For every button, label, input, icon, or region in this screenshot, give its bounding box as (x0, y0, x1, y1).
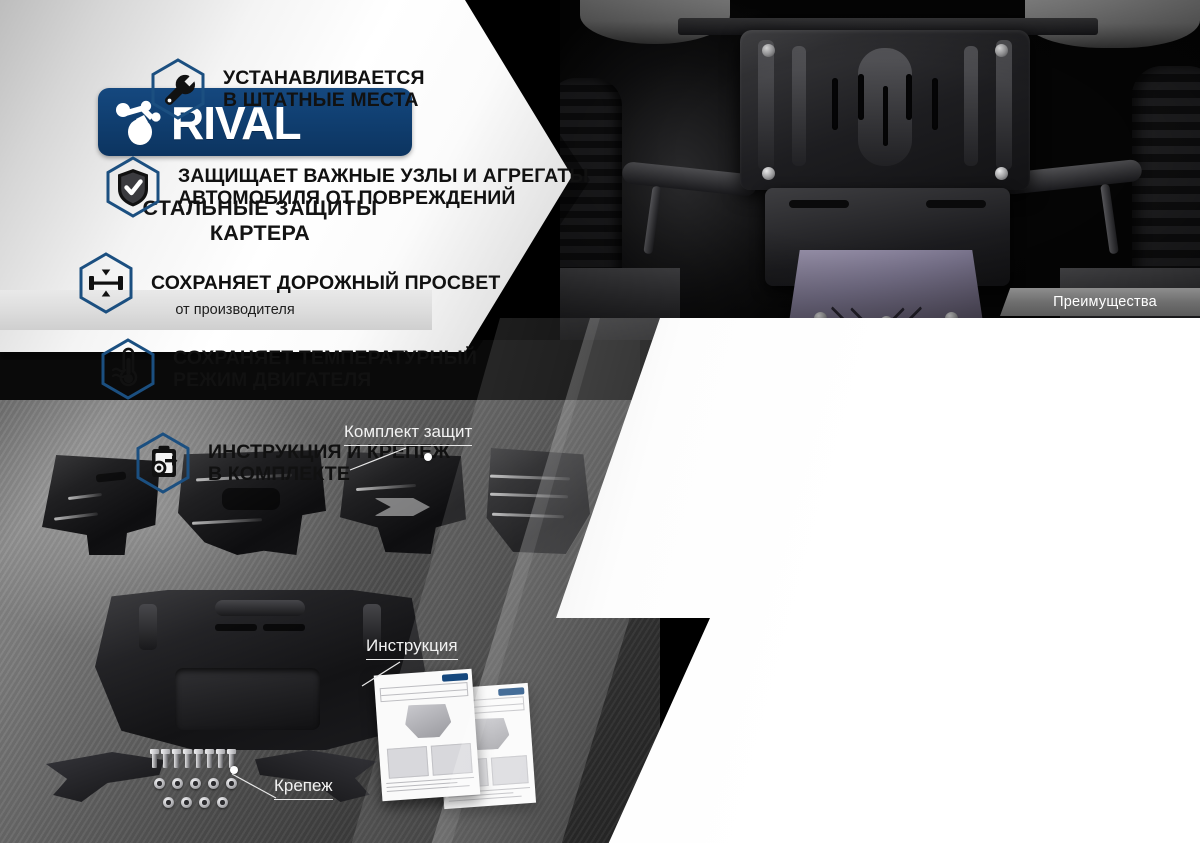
tab-advantages[interactable]: Преимущества (1000, 288, 1200, 316)
bottom-border (0, 843, 1200, 849)
clipboard-bolt-icon (135, 432, 191, 494)
feature-label-install: УСТАНАВЛИВАЕТСЯ В ШТАТНЫЕ МЕСТА (223, 67, 425, 111)
sheet-photo-1 (387, 746, 429, 779)
feature-item-protect: ЗАЩИЩАЕТ ВАЖНЫЕ УЗЛЫ И АГРЕГАТЫ АВТОМОБИ… (105, 156, 589, 218)
features-list: УСТАНАВЛИВАЕТСЯ В ШТАТНЫЕ МЕСТА ЗАЩИЩАЕТ… (0, 0, 680, 531)
tab-advantages-label: Преимущества (1053, 294, 1157, 310)
feature-label-kit: ИНСТРУКЦИЯ И КРЕПЕЖ В КОМПЛЕКТЕ (208, 441, 450, 485)
sheet-logo (442, 673, 468, 682)
feature-item-temperature: СОХРАНЯЕТ ТЕМПЕРАТУРНЫЙ РЕЖИМ ДВИГАТЕЛЯ (100, 338, 477, 400)
callout-fasteners-label: Крепеж (274, 776, 333, 800)
callout-kit-leader (348, 448, 408, 472)
ground-clearance-icon (78, 252, 134, 314)
oil-sump-recess (175, 668, 320, 730)
feature-item-install: УСТАНАВЛИВАЕТСЯ В ШТАТНЫЕ МЕСТА (150, 58, 425, 120)
feature-label-protect: ЗАЩИЩАЕТ ВАЖНЫЕ УЗЛЫ И АГРЕГАТЫ АВТОМОБИ… (178, 165, 589, 209)
callout-kit-dot (424, 453, 432, 461)
callout-fasteners-leader (232, 774, 278, 800)
callout-fasteners: Крепеж (274, 776, 333, 800)
callout-kit-label: Комплект защит (344, 422, 472, 446)
washers-group (150, 778, 242, 812)
sheet-diagram-plate (404, 702, 452, 739)
callout-manual: Инструкция (366, 636, 458, 660)
bolts-group (152, 752, 238, 768)
feature-item-clearance: СОХРАНЯЕТ ДОРОЖНЫЙ ПРОСВЕТ (78, 252, 500, 314)
promo-banner: Преимущества (0, 0, 1200, 849)
thermometer-icon (100, 338, 156, 400)
wrench-icon (150, 58, 206, 120)
feature-label-clearance: СОХРАНЯЕТ ДОРОЖНЫЙ ПРОСВЕТ (151, 272, 500, 294)
callout-kit: Комплект защит (344, 422, 472, 446)
shield-check-icon (105, 156, 161, 218)
callout-manual-leader (360, 662, 402, 688)
callout-fasteners-dot (230, 766, 238, 774)
callout-manual-label: Инструкция (366, 636, 458, 660)
feature-label-temperature: СОХРАНЯЕТ ТЕМПЕРАТУРНЫЙ РЕЖИМ ДВИГАТЕЛЯ (173, 347, 477, 391)
